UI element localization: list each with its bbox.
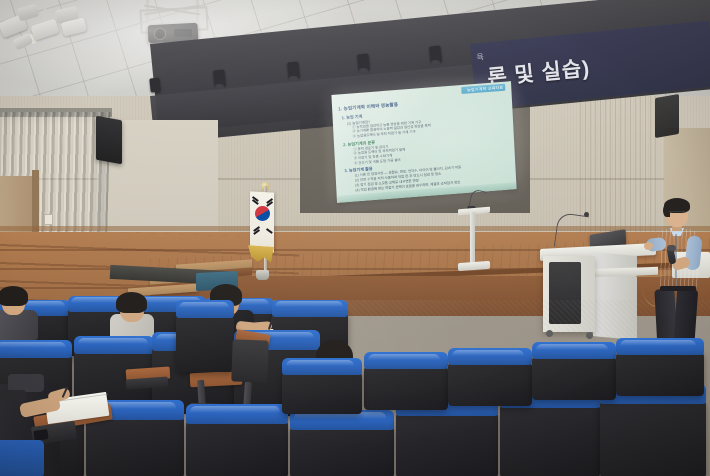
attendee-torso [0,310,38,340]
screen-glare [331,81,516,203]
attendee-hair [0,286,28,306]
attendee-left-rear [0,286,50,338]
stage-spotlight-icon [149,78,160,93]
banner-small-text: 육 [476,51,484,63]
podium-mic-capsule-icon [584,212,589,217]
auditorium-seat[interactable] [0,440,50,476]
wainscot-cap [0,226,710,231]
stage-spotlight-lens [289,76,298,81]
phone-on-desk [0,390,26,402]
taeguk-symbol-icon [255,206,270,221]
auditorium-seat[interactable] [616,338,710,396]
lectern-stem [470,212,475,264]
auditorium-seat[interactable] [186,404,294,476]
projection-screen: 농업기계학 교육자료 1. 농업기계학 이해와 영농활용 1. 농업 기계 (1… [331,81,516,203]
wall-speaker-icon [96,116,122,165]
wall-speaker-icon [655,94,679,138]
flag-stand-base [256,270,269,280]
auditorium-seat[interactable] [448,348,536,406]
microphone-head-icon [667,245,676,251]
auditorium-seat[interactable] [290,410,400,476]
auditorium-lecture-photo: 농ㄱ 육 론 및 실습) 농업기계학 교육자료 1. 농업기계학 이해와 영농활… [0,0,710,476]
auditorium-seat[interactable] [364,352,452,410]
presenter-belt [660,286,696,291]
auditorium-seat[interactable] [532,342,620,400]
stage-spotlight-lens [431,60,440,65]
presenter-hand-left [644,242,653,250]
auditorium-seat[interactable] [282,358,366,414]
stage-spotlight-lens [215,84,224,89]
light-switch-panel[interactable] [44,214,53,225]
eyeglasses-icon [668,211,686,216]
auditorium-seat[interactable] [176,300,238,372]
stage-spotlight-lens [359,68,368,73]
seat-side-panel [231,339,268,382]
attendee-hair [116,292,147,313]
podium-gooseneck-mic [554,212,590,251]
